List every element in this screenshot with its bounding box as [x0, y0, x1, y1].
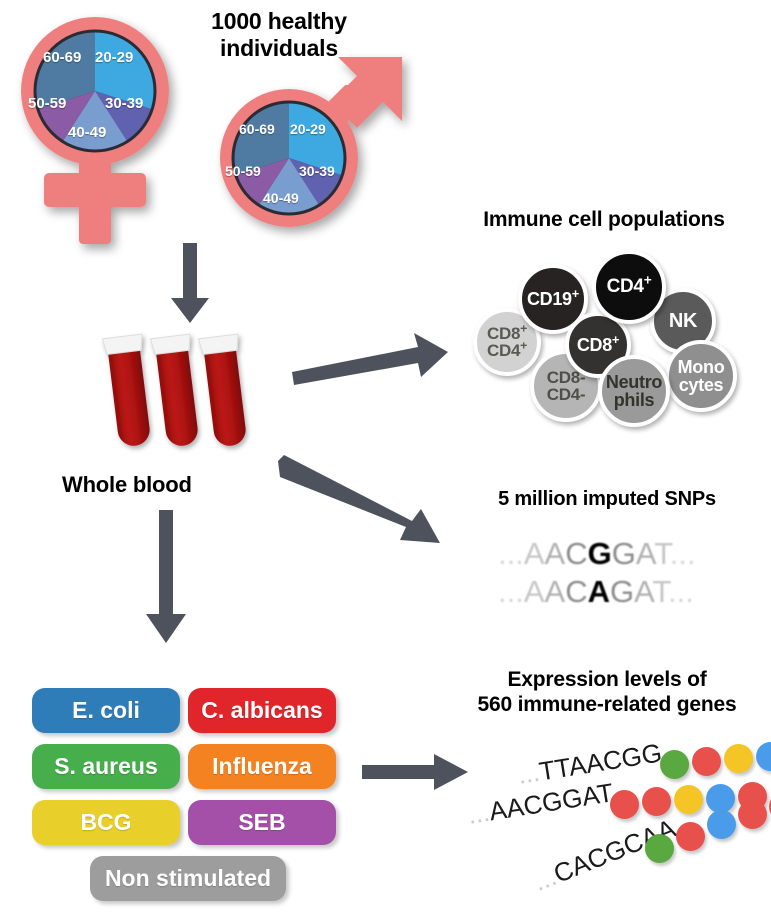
cell-label: CD8+CD4+ — [487, 325, 527, 360]
cell-label: NK — [669, 311, 697, 331]
immune-cell-cluster: CD8+CD4+ CD19+ CD4+ NK CD8+ Monocytes CD… — [0, 0, 771, 430]
stimulus-label: S. aureus — [54, 753, 158, 780]
stimulus-non-stimulated[interactable]: Non stimulated — [90, 856, 286, 901]
snp-allele-a: A — [588, 574, 610, 609]
stimulus-c-albicans[interactable]: C. albicans — [188, 688, 336, 733]
stimulus-bcg[interactable]: BCG — [32, 800, 180, 845]
snp-sequence-a: ...AACAGAT... — [498, 574, 694, 610]
cell-label: Neutrophils — [606, 373, 662, 410]
expression-title: Expression levels of 560 immune-related … — [452, 668, 762, 718]
stimulus-influenza[interactable]: Influenza — [188, 744, 336, 789]
cell-label: CD19+ — [527, 290, 579, 308]
stimulus-label: Influenza — [212, 753, 312, 780]
cell-label: CD8-CD4- — [547, 369, 585, 404]
stimulus-label: SEB — [238, 809, 285, 836]
rna-bead — [676, 822, 705, 851]
stimulus-e-coli[interactable]: E. coli — [32, 688, 180, 733]
rna-bead — [642, 787, 671, 816]
rna-bead — [707, 810, 736, 839]
stimulus-s-aureus[interactable]: S. aureus — [32, 744, 180, 789]
stimulus-label: C. albicans — [201, 697, 322, 724]
cell-label: Monocytes — [678, 358, 725, 395]
rna-bead — [706, 784, 735, 813]
rna-bead — [724, 744, 753, 773]
rna-bead — [674, 785, 703, 814]
stimulus-seb[interactable]: SEB — [188, 800, 336, 845]
arrow-blood-to-stimuli — [140, 510, 200, 645]
stimulus-label: BCG — [80, 809, 131, 836]
cell-cd4-positive: CD4+ — [592, 250, 666, 324]
whole-blood-label: Whole blood — [62, 472, 262, 498]
cell-neutrophils: Neutrophils — [598, 355, 670, 427]
stimulus-label: E. coli — [72, 697, 140, 724]
rna-bead — [610, 790, 639, 819]
arrow-stimuli-to-expression — [362, 752, 472, 792]
rna-bead — [692, 747, 721, 776]
rna-bead — [660, 750, 689, 779]
arrow-blood-to-snps — [278, 455, 448, 550]
rna-bead — [756, 742, 771, 771]
rna-bead — [738, 800, 767, 829]
snps-title: 5 million imputed SNPs — [462, 488, 752, 512]
study-design-diagram: 1000 healthy individuals — [0, 0, 771, 922]
cell-label: CD4+ — [607, 277, 652, 296]
rna-bead — [645, 834, 674, 863]
expression-title-line-1: Expression levels of — [452, 668, 762, 693]
expression-title-line-2: 560 immune-related genes — [452, 693, 762, 718]
cell-label: CD8+ — [577, 336, 619, 354]
snp-sequence-g: ...AACGGAT... — [498, 536, 696, 572]
snp-allele-g: G — [588, 536, 612, 571]
cell-monocytes: Monocytes — [665, 340, 737, 412]
stimulus-label: Non stimulated — [105, 865, 271, 892]
